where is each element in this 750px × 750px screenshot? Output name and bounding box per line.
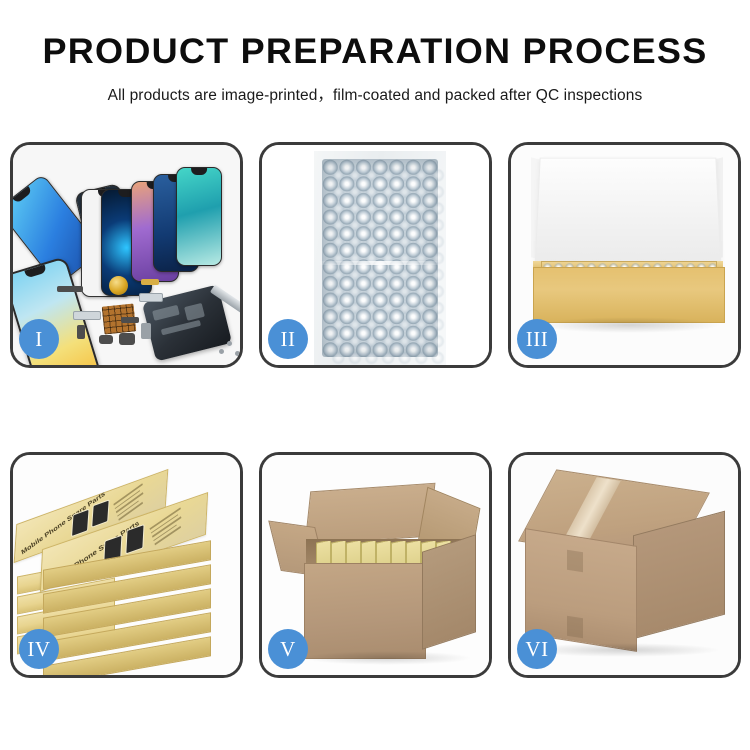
step-panel-3: III (508, 142, 741, 368)
coil-part-icon (109, 276, 128, 295)
kraft-box-body-icon (533, 267, 725, 323)
page-title: PRODUCT PREPARATION PROCESS (0, 34, 750, 69)
bubble-wrap-overlay (330, 167, 446, 365)
screw-icon (227, 341, 232, 346)
speaker-part-icon (119, 333, 135, 345)
step-badge-6: VI (517, 629, 557, 669)
spare-part-icon (121, 317, 139, 323)
screw-icon (235, 351, 240, 356)
carton-seam-tab (567, 616, 583, 639)
step-panel-4: Mobile Phone Spare Parts Mobile Phone Sp… (10, 452, 243, 678)
screw-icon (219, 349, 224, 354)
carton-shadow (302, 651, 472, 665)
step-badge-4: IV (19, 629, 59, 669)
step-panel-6: VI (508, 452, 741, 678)
step-panel-5: V (259, 452, 492, 678)
wrap-seam (320, 261, 442, 265)
step-badge-2: II (268, 319, 308, 359)
box-artwork-phone (125, 524, 144, 555)
phone-screen-icon (176, 167, 222, 266)
carton-flap-back (305, 483, 436, 546)
carton-side-panel (422, 534, 476, 650)
spare-part-icon (141, 279, 159, 285)
flex-cable-icon (73, 311, 101, 320)
flex-cable-icon (139, 293, 163, 302)
page-subtitle: All products are image-printed，film-coat… (0, 69, 750, 105)
carton-seam-tab (567, 550, 583, 573)
white-box-lid-icon (534, 158, 722, 276)
battery-part-icon (141, 323, 151, 339)
step-panel-1: I (10, 142, 243, 368)
spare-part-icon (57, 286, 83, 292)
step-badge-5: V (268, 629, 308, 669)
header: PRODUCT PREPARATION PROCESS All products… (0, 0, 750, 105)
spare-part-icon (99, 335, 113, 344)
box-shadow (537, 317, 721, 333)
step-badge-3: III (517, 319, 557, 359)
step-badge-1: I (19, 319, 59, 359)
box-artwork-text-lines (150, 506, 189, 547)
carton-front-panel (304, 563, 426, 659)
process-steps-grid: I II III (10, 142, 742, 678)
spare-part-icon (77, 325, 85, 339)
step-panel-2: II (259, 142, 492, 368)
